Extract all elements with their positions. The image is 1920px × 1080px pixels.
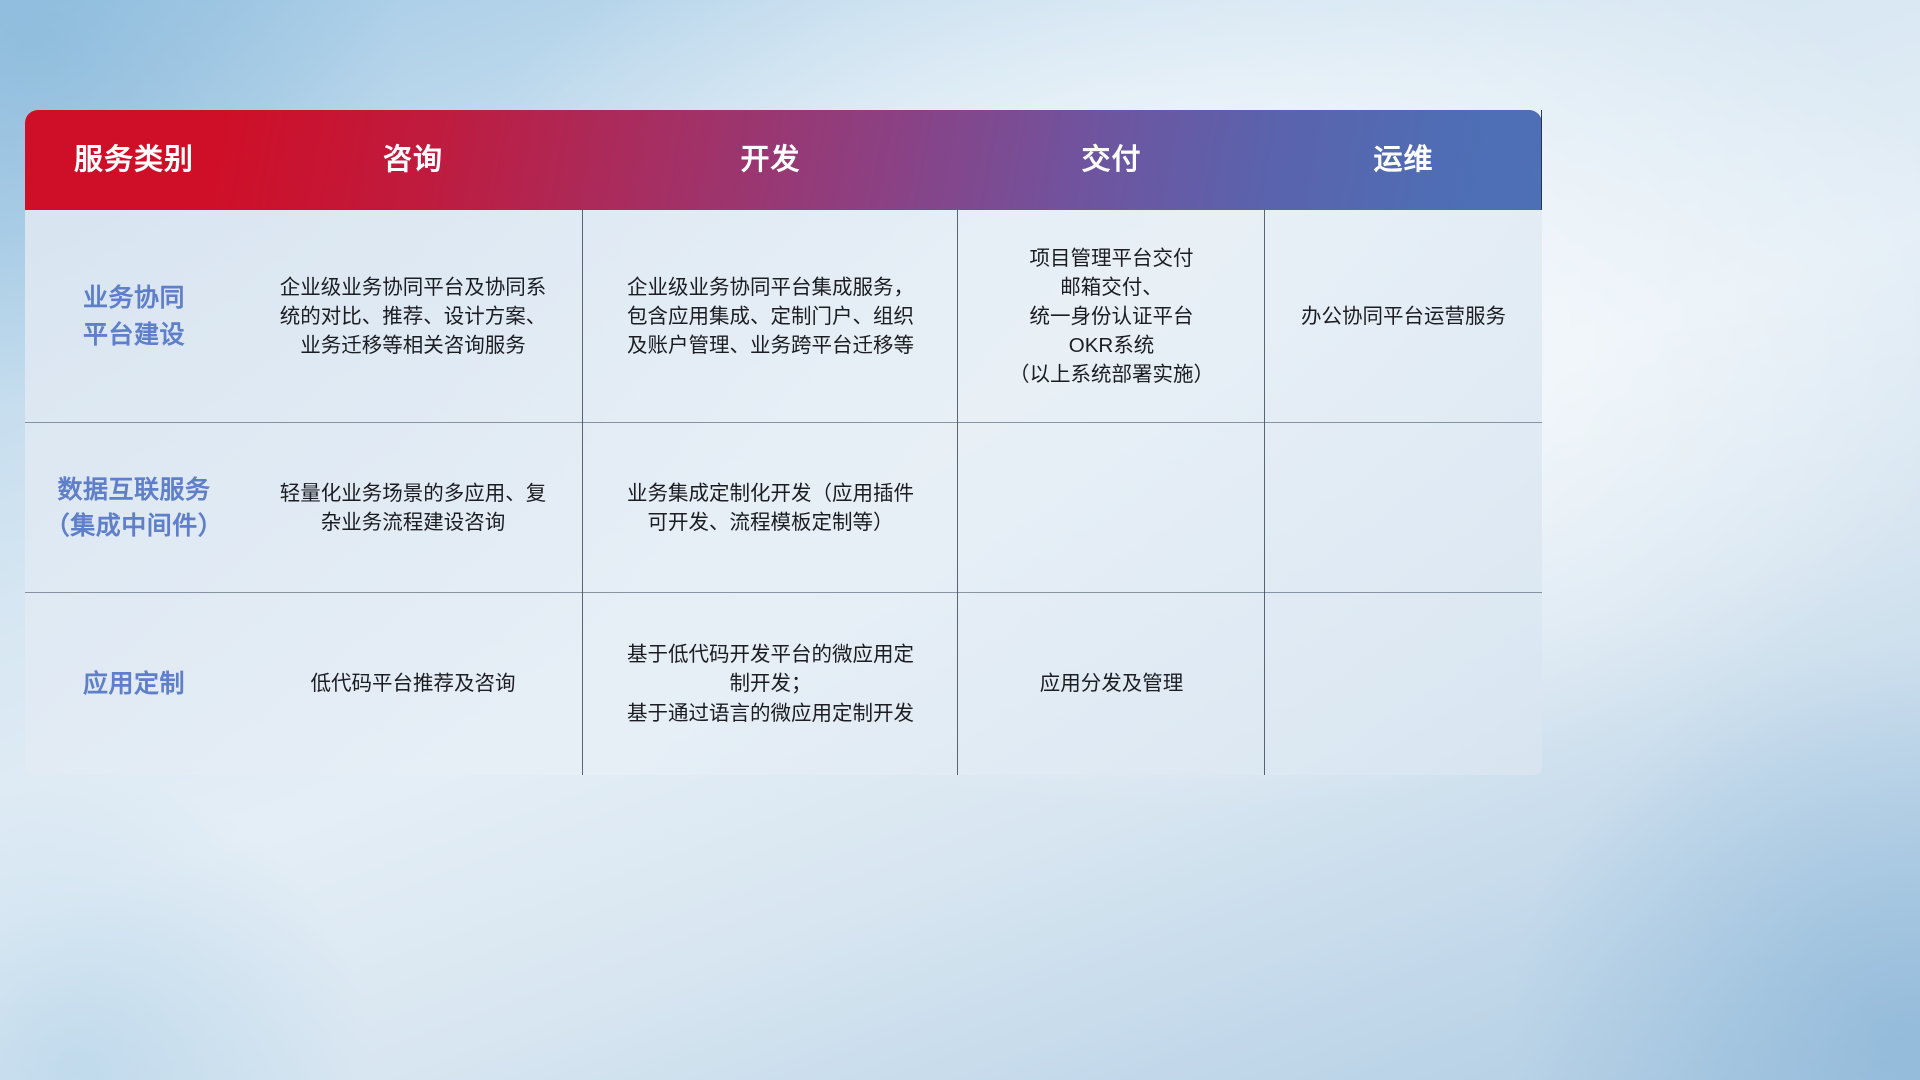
cell-operations: 办公协同平台运营服务	[1265, 210, 1542, 423]
row-label-text: 应用定制	[83, 666, 185, 702]
cell-delivery	[958, 423, 1265, 593]
table-header-row: 服务类别 咨询 开发 交付 运维	[25, 110, 1542, 210]
service-matrix-table: 服务类别 咨询 开发 交付 运维 业务协同 平台建设 企业级业务协同平台及协同系…	[25, 110, 1542, 775]
column-header-consulting: 咨询	[243, 146, 583, 175]
column-header-operations: 运维	[1265, 146, 1542, 175]
cell-operations	[1265, 593, 1542, 775]
table-row: 业务协同 平台建设 企业级业务协同平台及协同系 统的对比、推荐、设计方案、 业务…	[25, 210, 1542, 423]
row-label-cell: 业务协同 平台建设	[25, 210, 243, 423]
column-header-category: 服务类别	[25, 146, 243, 175]
cell-development: 企业级业务协同平台集成服务， 包含应用集成、定制门户、组织 及账户管理、业务跨平…	[583, 210, 958, 423]
cell-delivery: 应用分发及管理	[958, 593, 1265, 775]
cell-operations	[1265, 423, 1542, 593]
cell-text: 基于低代码开发平台的微应用定 制开发； 基于通过语言的微应用定制开发	[627, 640, 914, 727]
cell-text: 企业级业务协同平台及协同系 统的对比、推荐、设计方案、 业务迁移等相关咨询服务	[280, 273, 547, 360]
cell-text: 项目管理平台交付 邮箱交付、 统一身份认证平台 OKR系统 （以上系统部署实施）	[1009, 244, 1214, 390]
column-header-development: 开发	[583, 146, 958, 175]
cell-text: 办公协同平台运营服务	[1301, 302, 1506, 331]
cell-text: 业务集成定制化开发（应用插件 可开发、流程模板定制等）	[627, 479, 914, 537]
cell-development: 基于低代码开发平台的微应用定 制开发； 基于通过语言的微应用定制开发	[583, 593, 958, 775]
cell-consulting: 轻量化业务场景的多应用、复 杂业务流程建设咨询	[243, 423, 583, 593]
cell-text: 轻量化业务场景的多应用、复 杂业务流程建设咨询	[280, 479, 547, 537]
column-header-delivery: 交付	[958, 146, 1265, 175]
row-label-text: 业务协同 平台建设	[83, 280, 185, 353]
row-label-cell: 应用定制	[25, 593, 243, 775]
row-label-cell: 数据互联服务 （集成中间件）	[25, 423, 243, 593]
table-body: 业务协同 平台建设 企业级业务协同平台及协同系 统的对比、推荐、设计方案、 业务…	[25, 210, 1542, 775]
table-row: 应用定制 低代码平台推荐及咨询 基于低代码开发平台的微应用定 制开发； 基于通过…	[25, 593, 1542, 775]
cell-consulting: 企业级业务协同平台及协同系 统的对比、推荐、设计方案、 业务迁移等相关咨询服务	[243, 210, 583, 423]
cell-text: 应用分发及管理	[1040, 669, 1184, 698]
row-label-text: 数据互联服务 （集成中间件）	[45, 472, 224, 545]
cell-text: 低代码平台推荐及咨询	[311, 669, 516, 698]
cell-consulting: 低代码平台推荐及咨询	[243, 593, 583, 775]
cell-development: 业务集成定制化开发（应用插件 可开发、流程模板定制等）	[583, 423, 958, 593]
table-row: 数据互联服务 （集成中间件） 轻量化业务场景的多应用、复 杂业务流程建设咨询 业…	[25, 423, 1542, 593]
cell-delivery: 项目管理平台交付 邮箱交付、 统一身份认证平台 OKR系统 （以上系统部署实施）	[958, 210, 1265, 423]
cell-text: 企业级业务协同平台集成服务， 包含应用集成、定制门户、组织 及账户管理、业务跨平…	[627, 273, 914, 360]
